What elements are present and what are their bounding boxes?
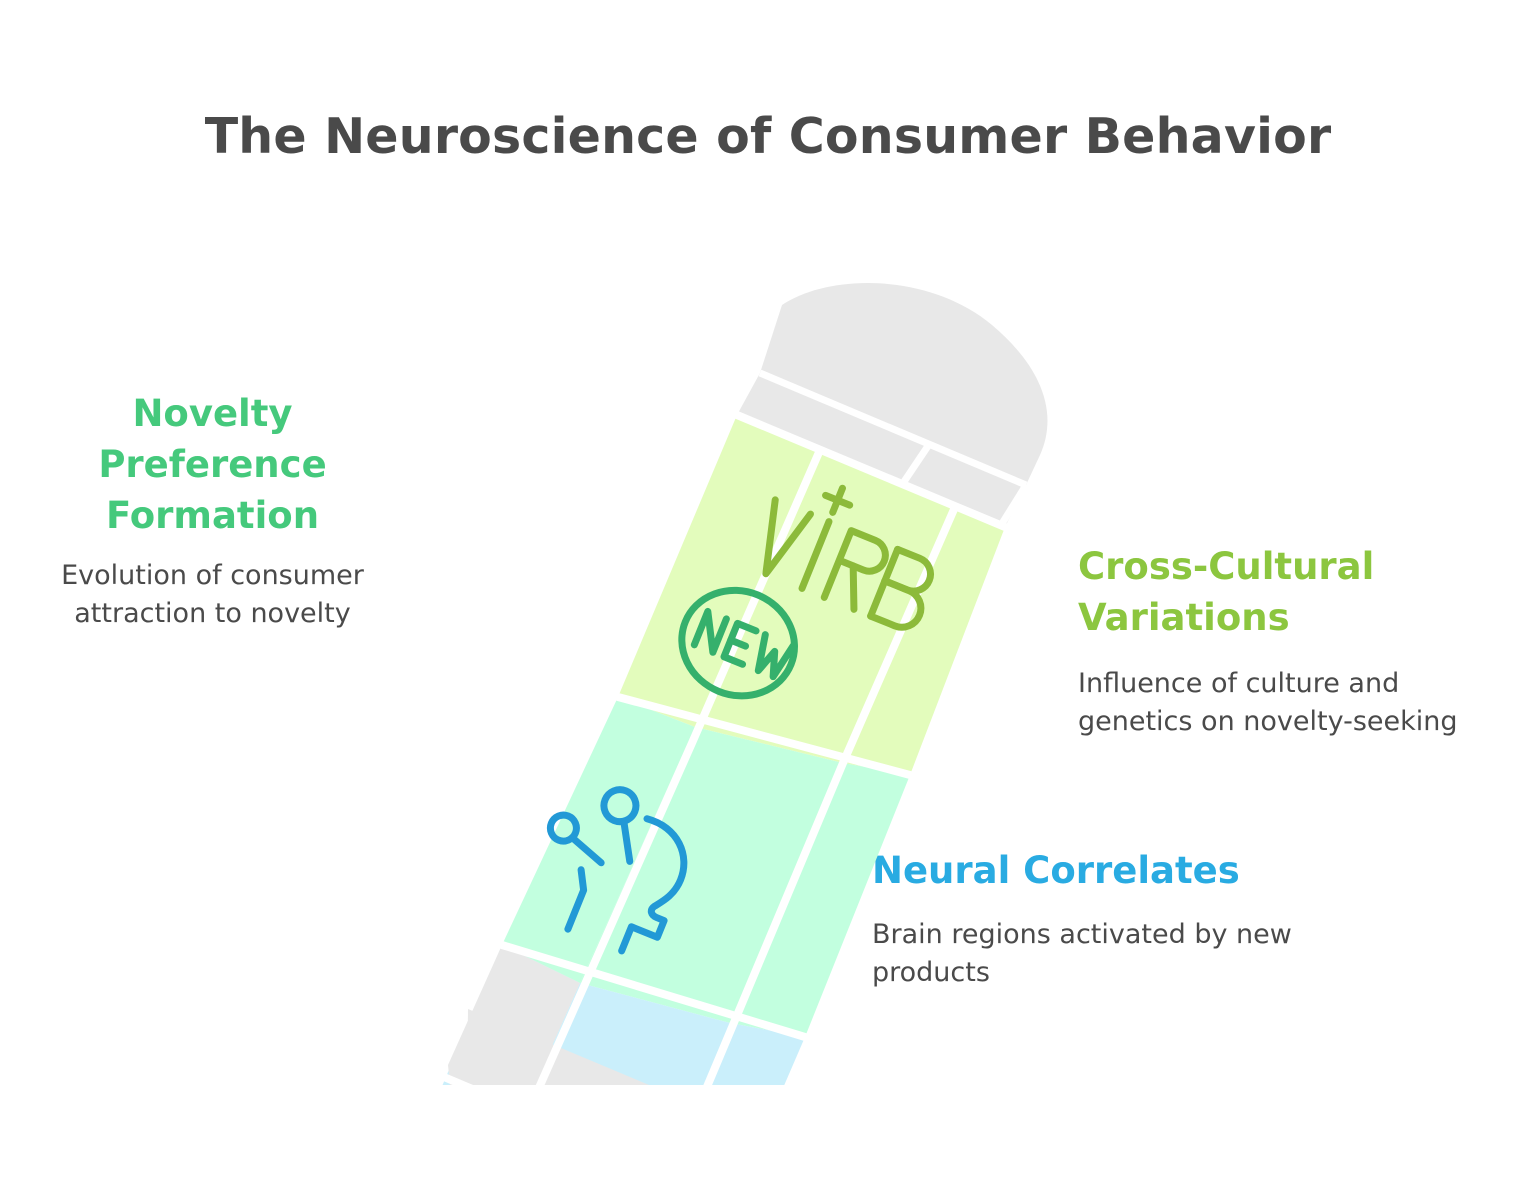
callout-cross-cultural-variations: Cross-Cultural Variations Influence of c… <box>1078 541 1478 742</box>
callout-novelty-preference-formation: Novelty Preference Formation Evolution o… <box>40 388 385 634</box>
pencil-illustration <box>430 265 1090 1085</box>
pencil-body <box>502 415 1005 1037</box>
callout-heading-novelty: Novelty Preference Formation <box>40 388 385 541</box>
page-title: The Neuroscience of Consumer Behavior <box>0 108 1536 165</box>
callout-heading-cultural: Cross-Cultural Variations <box>1078 541 1478 643</box>
callout-description-cultural: Influence of culture and genetics on nov… <box>1078 665 1478 742</box>
callout-description-novelty: Evolution of consumer attraction to nove… <box>40 557 385 634</box>
pencil-svg <box>430 265 1090 1085</box>
